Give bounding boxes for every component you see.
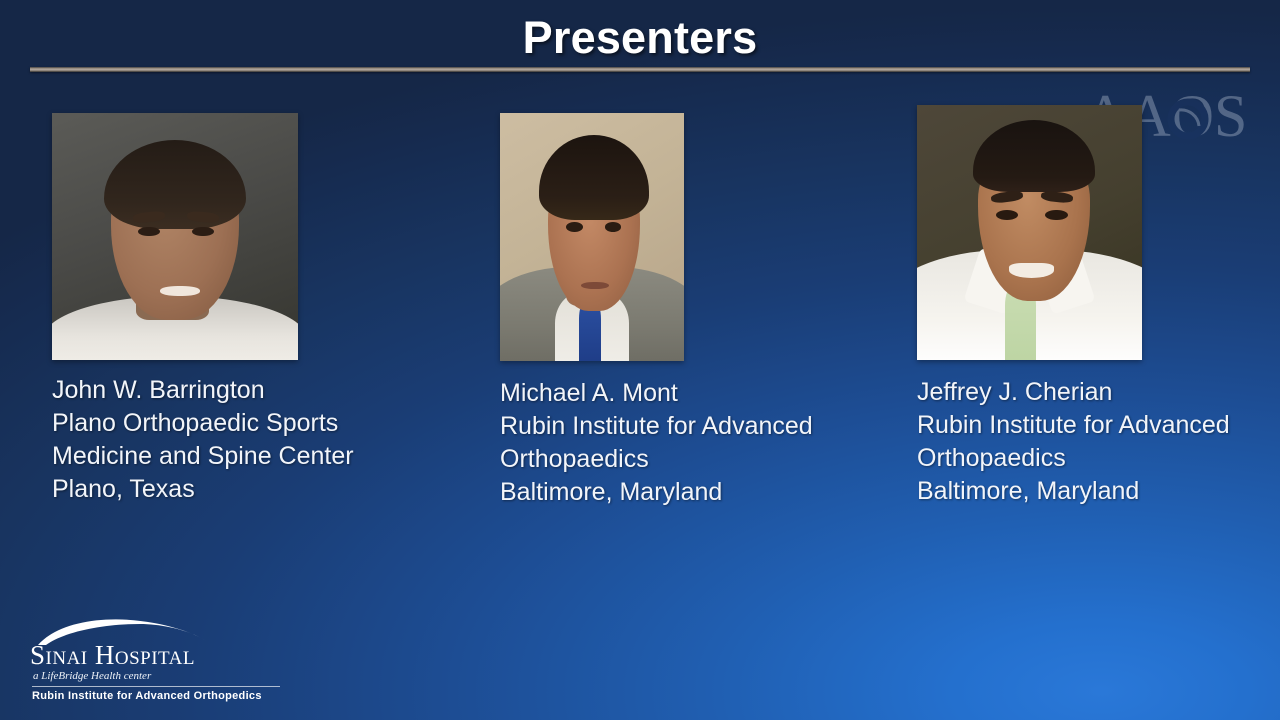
presenter-card-3: Jeffrey J. Cherian Rubin Institute for A…: [917, 105, 1267, 508]
presenter-photo-3: [917, 105, 1142, 360]
presenter-affiliation-line-2: Orthopaedics: [917, 442, 1267, 475]
presenter-affiliation-line-2: Medicine and Spine Center: [52, 440, 472, 473]
sinai-logo-divider: [32, 686, 280, 687]
presenter-card-1: John W. Barrington Plano Orthopaedic Spo…: [52, 113, 472, 506]
presenter-affiliation-line-1: Rubin Institute for Advanced: [500, 410, 920, 443]
presenter-details-3: Jeffrey J. Cherian Rubin Institute for A…: [917, 376, 1267, 508]
presenter-name: Jeffrey J. Cherian: [917, 376, 1267, 409]
page-title: Presenters: [0, 12, 1280, 64]
presenter-photo-2: [500, 113, 684, 361]
title-divider-rule: [30, 67, 1250, 72]
presenter-affiliation-line-1: Rubin Institute for Advanced: [917, 409, 1267, 442]
slide-header: Presenters: [0, 0, 1280, 74]
presenter-affiliation-line-1: Plano Orthopaedic Sports: [52, 407, 472, 440]
presentation-slide: Presenters AAOS John W. Barrington Plano…: [0, 0, 1280, 720]
sinai-logo-tagline: a LifeBridge Health center: [33, 670, 151, 682]
presenter-name: Michael A. Mont: [500, 377, 920, 410]
sinai-logo-name: Sinai Hospital: [30, 640, 195, 671]
presenter-card-2: Michael A. Mont Rubin Institute for Adva…: [500, 113, 920, 509]
presenter-location: Baltimore, Maryland: [917, 475, 1267, 508]
presenter-name: John W. Barrington: [52, 374, 472, 407]
presenter-location: Plano, Texas: [52, 473, 472, 506]
sinai-hospital-logo: Sinai Hospital a LifeBridge Health cente…: [30, 618, 282, 696]
presenter-details-1: John W. Barrington Plano Orthopaedic Spo…: [52, 374, 472, 506]
sinai-logo-subtitle: Rubin Institute for Advanced Orthopedics: [32, 690, 262, 702]
presenter-affiliation-line-2: Orthopaedics: [500, 443, 920, 476]
presenter-details-2: Michael A. Mont Rubin Institute for Adva…: [500, 377, 920, 509]
presenter-location: Baltimore, Maryland: [500, 476, 920, 509]
presenter-photo-1: [52, 113, 298, 360]
